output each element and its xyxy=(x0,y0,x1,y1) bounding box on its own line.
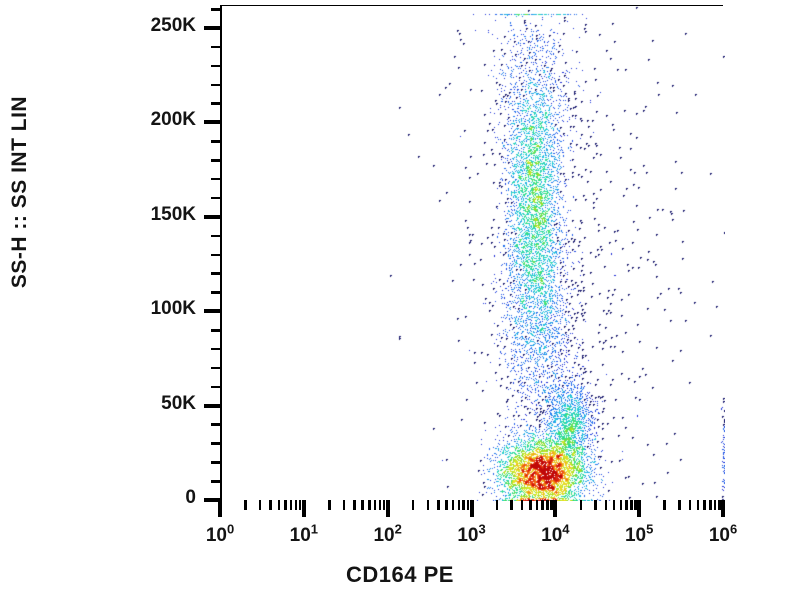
y-axis-label: SS-H :: SS INT LIN xyxy=(8,0,32,392)
x-tick-label: 106 xyxy=(678,525,768,547)
x-tick-label: 105 xyxy=(594,525,684,547)
plot-area xyxy=(220,5,723,500)
x-tick-minor xyxy=(546,500,549,510)
x-tick-minor xyxy=(445,500,448,510)
y-tick-label: 100K xyxy=(76,298,196,320)
flow-cytometry-plot: SS-H :: SS INT LIN 050K100K150K200K250K … xyxy=(0,0,800,600)
x-tick-minor xyxy=(580,500,583,510)
x-tick-major-5 xyxy=(637,500,641,517)
y-tick-major-2 xyxy=(204,309,221,313)
x-tick-minor xyxy=(689,500,692,510)
x-tick-minor xyxy=(244,500,247,510)
x-tick-minor xyxy=(529,500,532,510)
x-tick-minor xyxy=(452,500,455,510)
scatter-density-canvas xyxy=(222,6,725,501)
y-tick-major-5 xyxy=(204,26,221,30)
x-tick-minor xyxy=(361,500,364,510)
y-tick-label: 200K xyxy=(76,109,196,131)
x-tick-minor xyxy=(343,500,346,510)
x-tick-minor xyxy=(462,500,465,510)
x-tick-minor xyxy=(278,500,281,510)
x-tick-label: 102 xyxy=(343,525,433,547)
y-tick-label: 150K xyxy=(76,204,196,226)
x-tick-minor xyxy=(295,500,298,510)
x-tick-minor xyxy=(594,500,597,510)
x-tick-minor xyxy=(541,500,544,510)
x-tick-minor xyxy=(383,500,386,510)
x-tick-major-6 xyxy=(721,500,725,517)
x-tick-minor xyxy=(467,500,470,510)
x-tick-minor xyxy=(536,500,539,510)
x-tick-label: 101 xyxy=(259,525,349,547)
x-tick-major-4 xyxy=(553,500,557,517)
x-tick-minor xyxy=(412,500,415,510)
x-tick-minor xyxy=(605,500,608,510)
x-tick-minor xyxy=(709,500,712,510)
y-tick-label: 0 xyxy=(76,487,196,509)
x-tick-minor xyxy=(678,500,681,510)
x-tick-minor xyxy=(521,500,524,510)
x-tick-minor xyxy=(328,500,331,510)
y-tick-label: 250K xyxy=(76,15,196,37)
x-tick-minor xyxy=(458,500,461,510)
y-tick-major-1 xyxy=(204,404,221,408)
x-tick-minor xyxy=(510,500,513,510)
x-tick-minor xyxy=(269,500,272,510)
x-tick-minor xyxy=(374,500,377,510)
x-tick-minor xyxy=(379,500,382,510)
x-tick-minor xyxy=(613,500,616,510)
x-tick-minor xyxy=(697,500,700,510)
x-tick-minor xyxy=(290,500,293,510)
x-tick-major-0 xyxy=(218,500,222,517)
x-axis-label: CD164 PE xyxy=(0,562,800,588)
y-tick-major-4 xyxy=(204,120,221,124)
x-tick-label: 104 xyxy=(510,525,600,547)
x-tick-minor xyxy=(427,500,430,510)
x-tick-label: 100 xyxy=(175,525,265,547)
x-tick-minor xyxy=(437,500,440,510)
x-tick-minor xyxy=(496,500,499,510)
y-tick-label: 50K xyxy=(76,393,196,415)
x-tick-minor xyxy=(550,500,553,510)
x-tick-minor xyxy=(625,500,628,510)
x-tick-minor xyxy=(634,500,637,510)
x-tick-minor xyxy=(620,500,623,510)
x-tick-minor xyxy=(663,500,666,510)
x-tick-minor xyxy=(718,500,721,510)
x-tick-minor xyxy=(703,500,706,510)
x-tick-major-3 xyxy=(470,500,474,517)
x-tick-major-2 xyxy=(386,500,390,517)
x-tick-minor xyxy=(353,500,356,510)
x-tick-major-1 xyxy=(302,500,306,517)
x-tick-minor xyxy=(714,500,717,510)
y-tick-major-3 xyxy=(204,215,221,219)
x-tick-minor xyxy=(630,500,633,510)
x-tick-minor xyxy=(368,500,371,510)
x-tick-minor xyxy=(284,500,287,510)
x-tick-minor xyxy=(299,500,302,510)
x-tick-minor xyxy=(259,500,262,510)
x-tick-label: 103 xyxy=(427,525,517,547)
